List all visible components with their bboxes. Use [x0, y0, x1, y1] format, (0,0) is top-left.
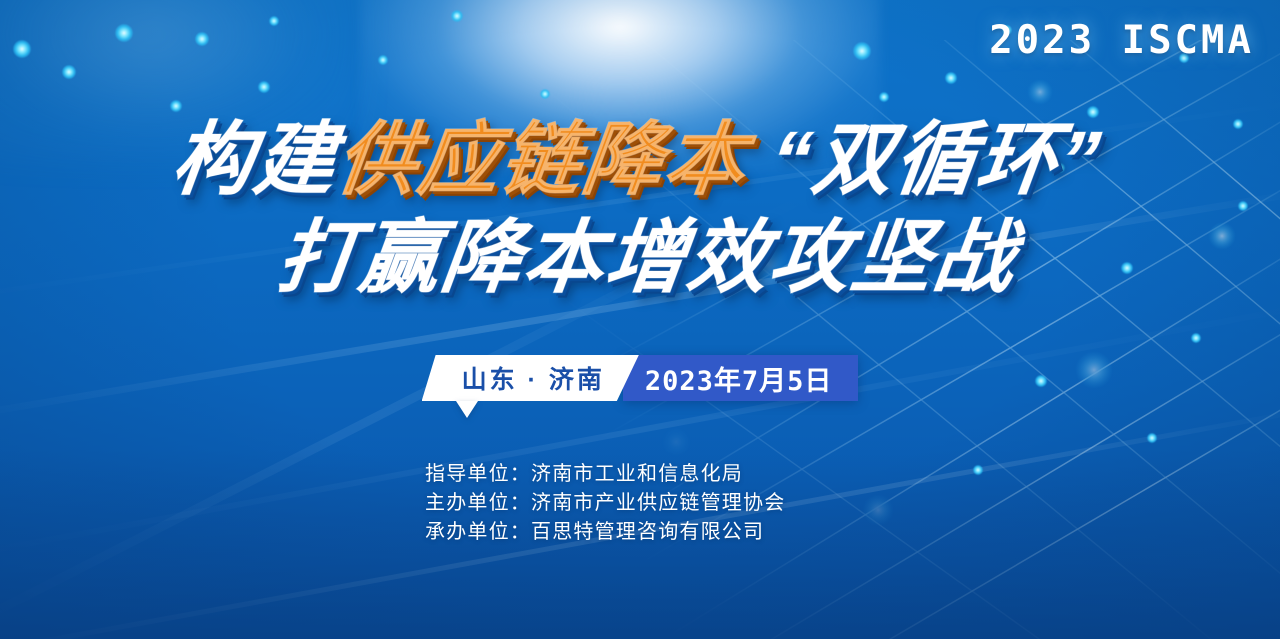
- headline-seg-1a: 构建: [167, 115, 342, 204]
- badge-pointer-icon: [456, 401, 478, 418]
- particle-dot: [945, 72, 957, 84]
- headline-seg-2a: 打赢降本增效攻坚战: [273, 213, 1022, 302]
- particle-dot: [269, 16, 279, 26]
- particle-dot: [879, 92, 889, 102]
- credits-inner: 指导单位：济南市工业和信息化局 主办单位：济南市产业供应链管理协会 承办单位：百…: [425, 460, 855, 547]
- particle-dot: [378, 55, 388, 65]
- particle-dot: [62, 65, 76, 79]
- particle-dot: [258, 81, 270, 93]
- headline-line-2: 打赢降本增效攻坚战: [8, 210, 1280, 306]
- headline-seg-1c: “双循环”: [741, 115, 1106, 204]
- particle-dot: [1147, 433, 1157, 443]
- particle-dot: [195, 32, 209, 46]
- particle-dot: [115, 24, 133, 42]
- particle-dot: [451, 10, 463, 22]
- credit-line-host: 主办单位：济南市产业供应链管理协会: [425, 489, 855, 518]
- headline-block: 构建供应链降本 “双循环” 打赢降本增效攻坚战: [0, 112, 1280, 306]
- particle-dot: [1191, 333, 1201, 343]
- credits-block: 指导单位：济南市工业和信息化局 主办单位：济南市产业供应链管理协会 承办单位：百…: [0, 460, 1280, 547]
- particle-dot: [170, 100, 182, 112]
- event-badge: 山东 · 济南 2023年7月5日: [422, 355, 859, 401]
- event-meta-row: 山东 · 济南 2023年7月5日: [0, 355, 1280, 401]
- credit-line-organizer: 承办单位：百思特管理咨询有限公司: [425, 518, 855, 547]
- headline-line-1: 构建供应链降本 “双循环”: [0, 112, 1280, 208]
- particle-dot: [853, 42, 871, 60]
- conference-banner: 2023 ISCMA 构建供应链降本 “双循环” 打赢降本增效攻坚战 山东 · …: [0, 0, 1280, 639]
- credit-line-guidance: 指导单位：济南市工业和信息化局: [425, 460, 855, 489]
- particle-dot: [540, 89, 550, 99]
- iscma-logo: 2023 ISCMA: [989, 18, 1254, 63]
- particle-dot: [13, 40, 31, 58]
- headline-seg-1b: 供应链降本: [331, 115, 752, 204]
- badge-date-label: 2023年7月5日: [623, 355, 859, 401]
- badge-city-label: 山东 · 济南: [422, 355, 639, 401]
